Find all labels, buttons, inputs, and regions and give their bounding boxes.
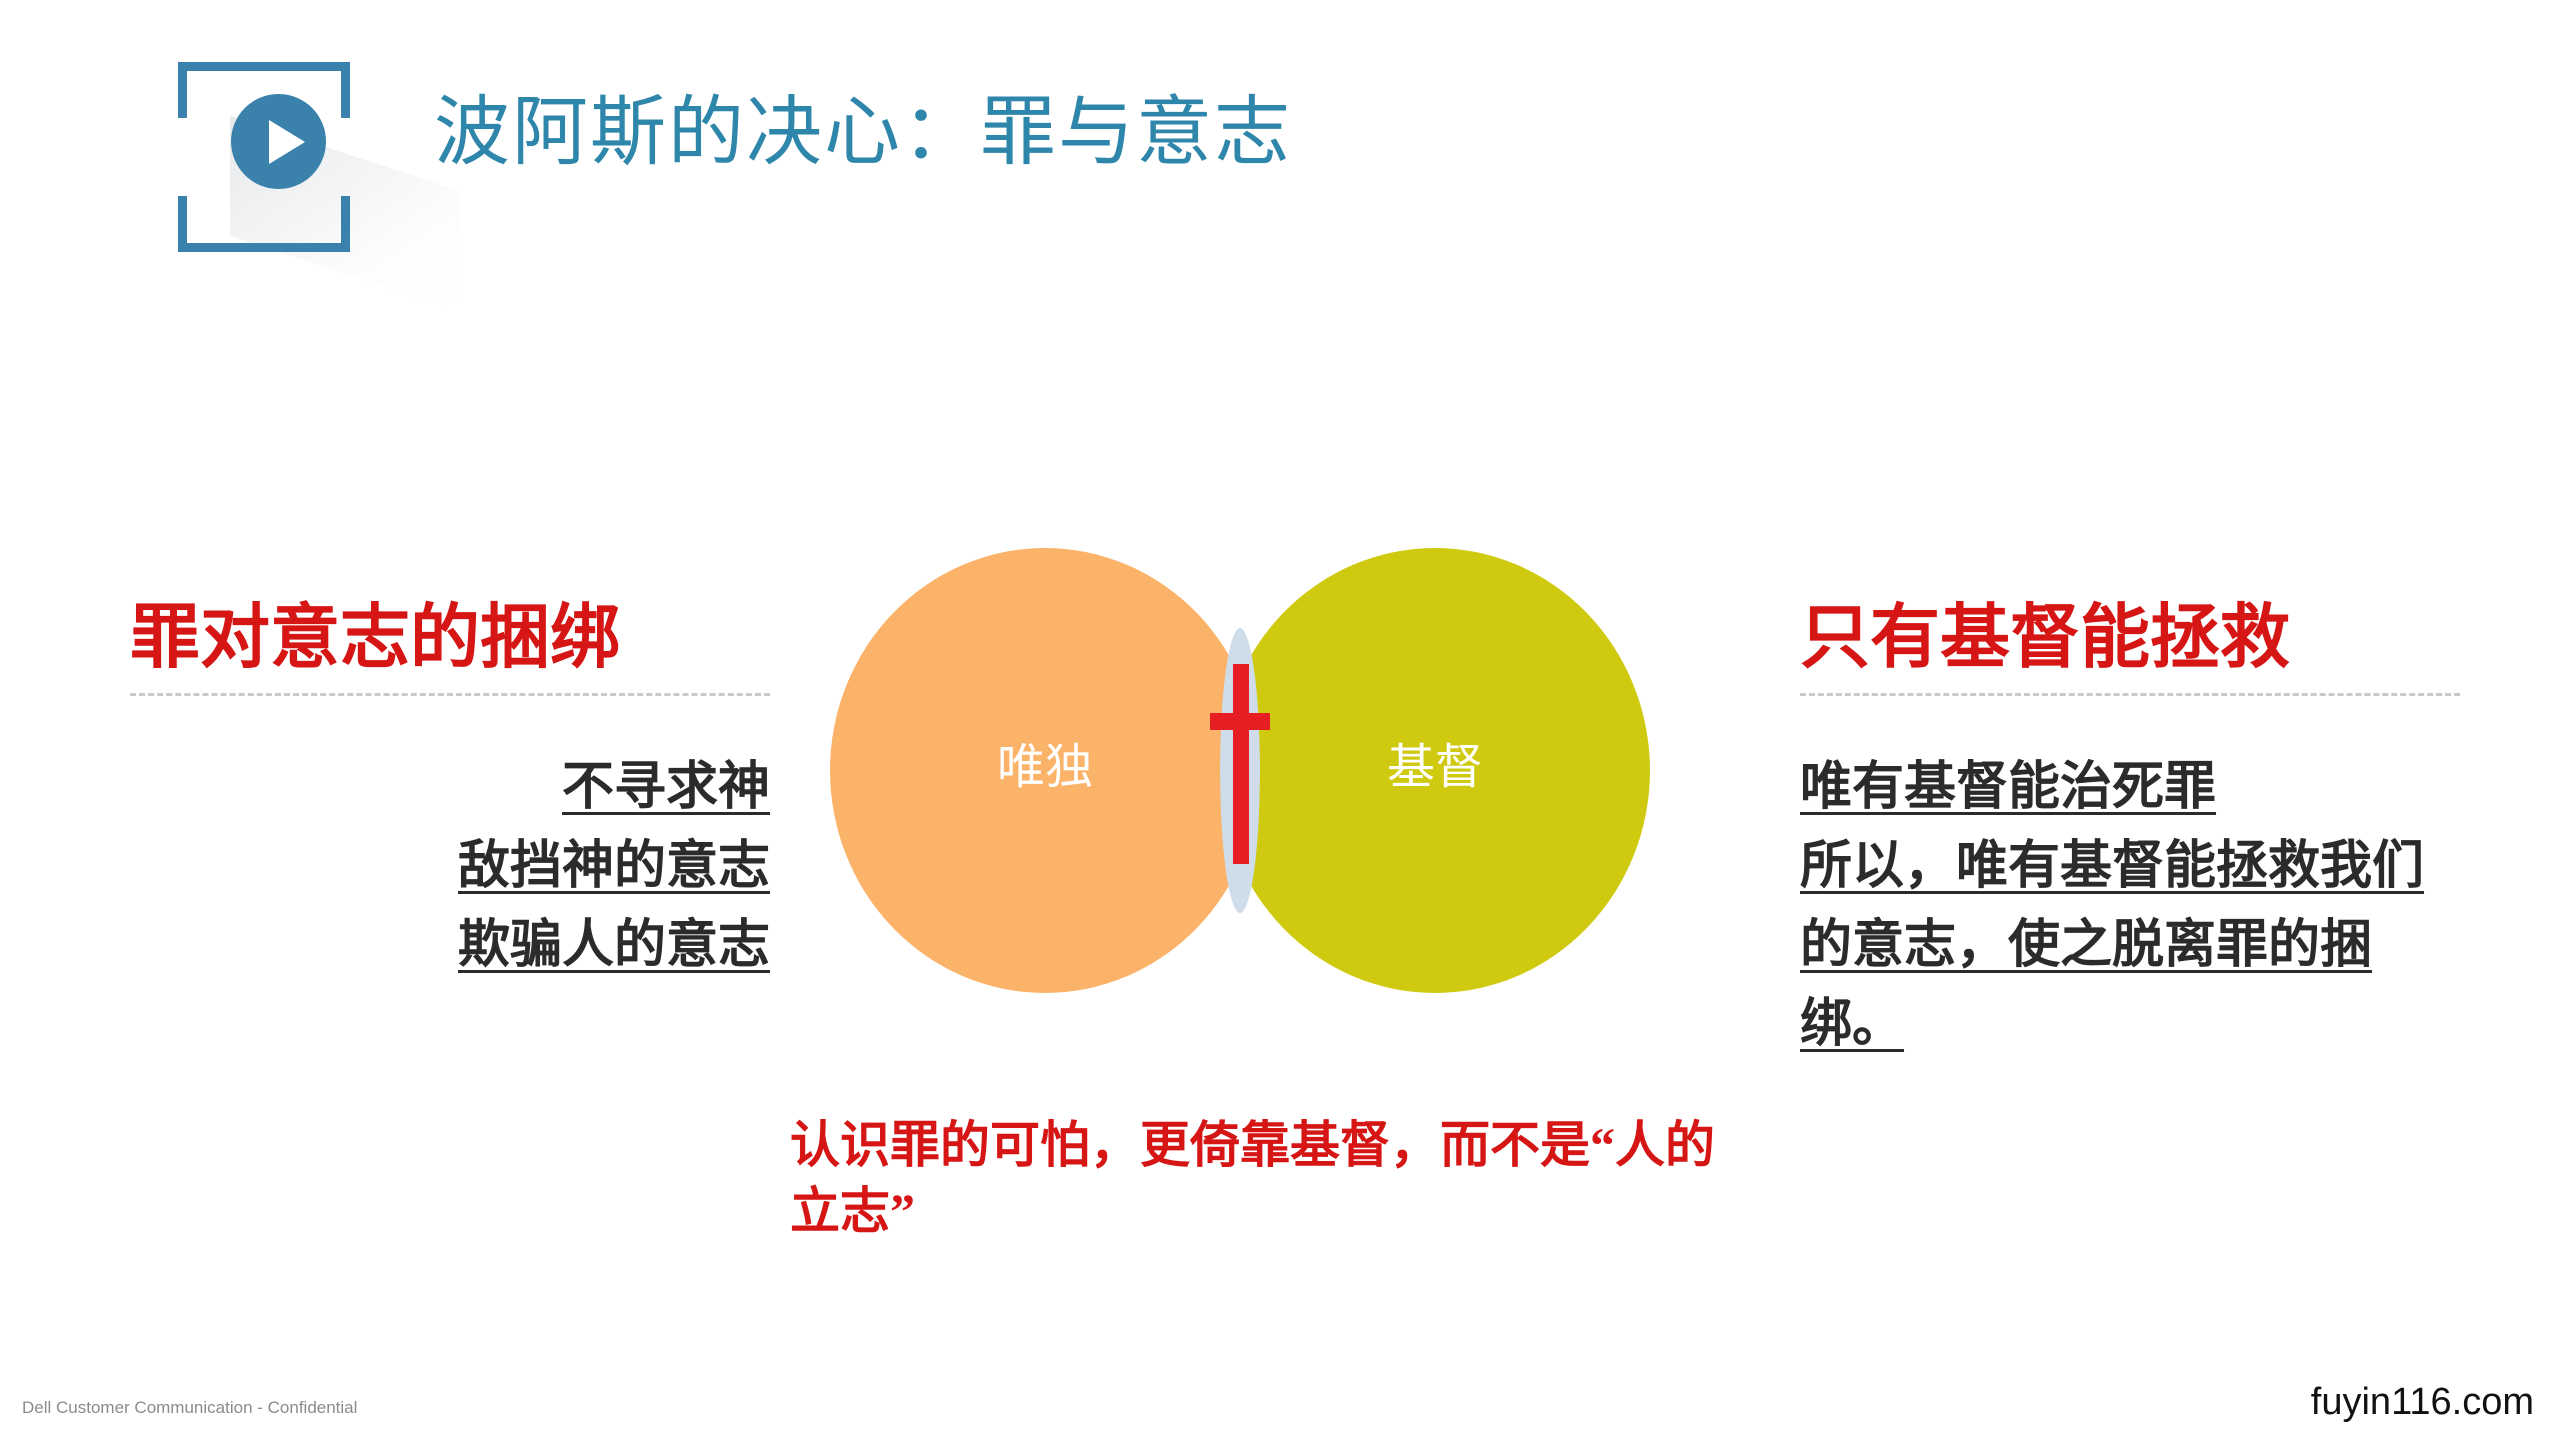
left-column-heading: 罪对意志的捆绑 bbox=[130, 600, 770, 677]
left-column-list: 不寻求神 敌挡神的意志 欺骗人的意志 bbox=[130, 748, 770, 985]
play-circle-icon bbox=[231, 94, 326, 189]
venn-label-right: 基督 bbox=[1220, 744, 1650, 792]
bracket-bottom-edge bbox=[178, 243, 350, 252]
list-item: 敌挡神的意志 bbox=[130, 827, 770, 906]
list-item: 欺骗人的意志 bbox=[130, 906, 770, 985]
right-column-divider bbox=[1800, 693, 2460, 696]
right-column-body: 唯有基督能治死罪 所以，唯有基督能拯救我们的意志，使之脱离罪的捆绑。 bbox=[1800, 748, 2460, 1064]
site-watermark: fuyin116.com bbox=[2311, 1381, 2534, 1424]
bracket-left-top bbox=[178, 62, 187, 118]
venn-caption: 认识罪的可怕，更倚靠基督，而不是“人的立志” bbox=[790, 1112, 1730, 1244]
list-item: 不寻求神 bbox=[130, 748, 770, 827]
venn-diagram: 唯独 基督 bbox=[830, 548, 1730, 1048]
venn-label-left: 唯独 bbox=[830, 744, 1260, 792]
right-column: 只有基督能拯救 唯有基督能治死罪 所以，唯有基督能拯救我们的意志，使之脱离罪的捆… bbox=[1800, 600, 2460, 1064]
bracket-left-bottom bbox=[178, 196, 187, 252]
bracket-right-top bbox=[341, 62, 350, 118]
play-triangle-icon bbox=[269, 120, 305, 164]
bracket-top-edge bbox=[178, 62, 350, 71]
body-line: 所以，唯有基督能拯救我们的意志，使之脱离罪的捆绑。 bbox=[1800, 827, 2460, 1064]
slide-header: 波阿斯的决心：罪与意志 bbox=[0, 0, 2560, 260]
cross-horizontal-bar bbox=[1210, 713, 1270, 730]
right-column-heading: 只有基督能拯救 bbox=[1800, 600, 2460, 677]
bracket-right-bottom bbox=[341, 196, 350, 252]
left-column: 罪对意志的捆绑 不寻求神 敌挡神的意志 欺骗人的意志 bbox=[130, 600, 770, 985]
left-column-divider bbox=[130, 693, 770, 696]
slide-title: 波阿斯的决心：罪与意志 bbox=[434, 92, 1292, 176]
body-line: 唯有基督能治死罪 bbox=[1800, 748, 2460, 827]
confidentiality-notice: Dell Customer Communication - Confidenti… bbox=[22, 1398, 357, 1418]
play-in-brackets-icon bbox=[178, 62, 392, 252]
